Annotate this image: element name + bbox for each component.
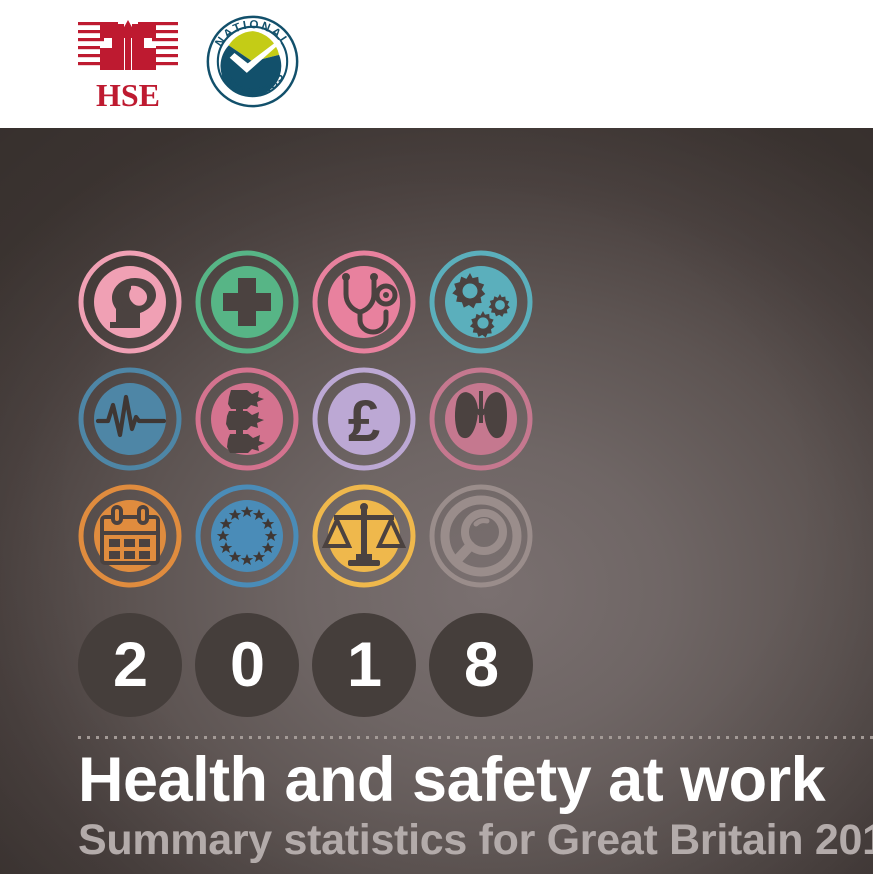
year-digit-1: 2 <box>78 613 182 717</box>
title-block: Health and safety at work Summary statis… <box>78 748 873 863</box>
hse-wordmark: HSE <box>96 77 160 110</box>
scales-icon <box>312 484 416 588</box>
national-statistics-logo: NATIONAL STATISTICS <box>205 14 300 112</box>
icon-grid: £ <box>78 250 542 588</box>
stethoscope-icon <box>312 250 416 354</box>
svg-text:£: £ <box>348 389 380 454</box>
magnifier-icon <box>429 484 533 588</box>
cover-panel: £ <box>0 128 873 874</box>
pound-sterling-icon: £ <box>312 367 416 471</box>
page-subtitle: Summary statistics for Great Britain 201… <box>78 818 873 863</box>
page-title: Health and safety at work <box>78 748 873 812</box>
year-digit-4: 8 <box>429 613 533 717</box>
year-digit-3: 1 <box>312 613 416 717</box>
report-cover-page: HSE NATIONAL <box>0 0 873 874</box>
year-row: 2 0 1 8 <box>78 613 542 717</box>
spine-icon <box>195 367 299 471</box>
gears-icon <box>429 250 533 354</box>
medical-cross-icon <box>195 250 299 354</box>
lungs-icon <box>429 367 533 471</box>
hse-logo: HSE <box>78 18 178 110</box>
head-brain-icon <box>78 250 182 354</box>
calendar-icon <box>78 484 182 588</box>
heartbeat-icon <box>78 367 182 471</box>
logo-header-band: HSE NATIONAL <box>0 0 873 128</box>
dotted-divider <box>78 736 873 739</box>
year-digit-2: 0 <box>195 613 299 717</box>
eu-stars-icon <box>195 484 299 588</box>
